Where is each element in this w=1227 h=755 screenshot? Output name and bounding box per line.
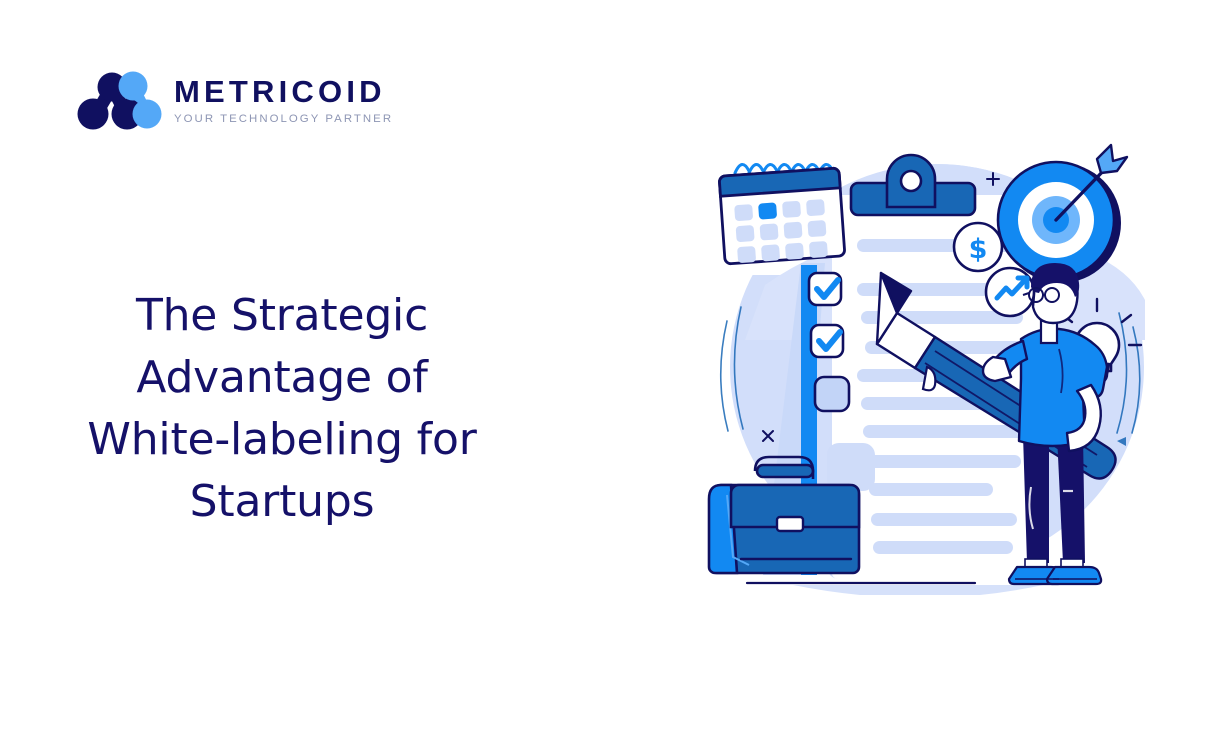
clipboard-clip-icon [851, 155, 975, 215]
hero-page: METRICOID YOUR TECHNOLOGY PARTNER The St… [0, 0, 1227, 755]
checkbox-checked-1 [809, 273, 841, 305]
metricoid-molecule-logo-icon [76, 70, 162, 132]
checklist-planning-illustration: $ [705, 135, 1165, 595]
calendar-icon [719, 164, 845, 264]
growth-chart-icon [986, 268, 1034, 316]
svg-text:$: $ [969, 234, 988, 265]
ground-line [747, 583, 1043, 595]
checkbox-empty-1 [815, 377, 849, 411]
dollar-coin-icon: $ [954, 223, 1002, 271]
brand-logo-text: METRICOID YOUR TECHNOLOGY PARTNER [174, 76, 393, 125]
brand-logo[interactable]: METRICOID YOUR TECHNOLOGY PARTNER [76, 70, 393, 132]
brand-wordmark: METRICOID [174, 76, 393, 107]
page-title: The Strategic Advantage of White-labelin… [62, 285, 502, 533]
brand-tagline: YOUR TECHNOLOGY PARTNER [174, 114, 393, 125]
checkbox-checked-2 [811, 325, 843, 357]
